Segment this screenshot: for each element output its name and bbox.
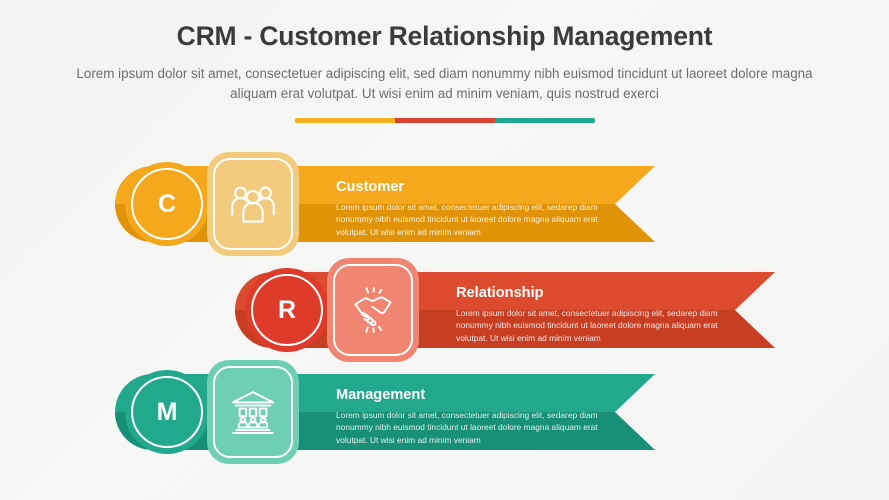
row-text-customer: Customer Lorem ipsum dolor sit amet, con… xyxy=(336,179,598,239)
badge-relationship[interactable]: R xyxy=(245,268,329,352)
row-management[interactable]: M Management Lorem ipsum dolor sit amet xyxy=(115,360,695,464)
people-group-icon xyxy=(230,184,276,224)
badge-customer[interactable]: C xyxy=(125,162,209,246)
row-description: Lorem ipsum dolor sit amet, consectetuer… xyxy=(336,201,598,239)
row-title: Customer xyxy=(336,179,598,197)
row-relationship[interactable]: R Relationship Lorem ipsum dolor sit ame… xyxy=(235,258,815,362)
row-customer[interactable]: C Customer Lorem ipsum dolor sit amet, c… xyxy=(115,152,695,256)
badge-letter: C xyxy=(158,192,176,217)
header: CRM - Customer Relationship Management L… xyxy=(0,0,889,123)
row-text-relationship: Relationship Lorem ipsum dolor sit amet,… xyxy=(456,285,718,345)
page-subtitle: Lorem ipsum dolor sit amet, consectetuer… xyxy=(60,64,830,105)
row-title: Relationship xyxy=(456,285,718,303)
divider-segment-3 xyxy=(495,118,595,123)
divider-segment-1 xyxy=(295,118,395,123)
row-arrow-tip-lower xyxy=(615,204,655,242)
row-description: Lorem ipsum dolor sit amet, consectetuer… xyxy=(456,307,718,345)
row-arrow-tip-upper xyxy=(735,272,775,310)
bank-institution-icon xyxy=(230,390,276,434)
row-arrow-tip-upper xyxy=(615,374,655,412)
row-arrow-tip xyxy=(615,374,655,450)
row-title: Management xyxy=(336,387,598,405)
icon-card-management[interactable] xyxy=(207,360,299,464)
row-arrow-tip-lower xyxy=(615,412,655,450)
row-text-management: Management Lorem ipsum dolor sit amet, c… xyxy=(336,387,598,447)
row-arrow-tip xyxy=(735,272,775,348)
row-arrow-tip-lower xyxy=(735,310,775,348)
handshake-icon xyxy=(349,287,397,333)
badge-letter: R xyxy=(278,298,296,323)
divider-bar xyxy=(295,118,595,123)
badge-letter: M xyxy=(157,400,178,425)
row-arrow-tip xyxy=(615,166,655,242)
row-description: Lorem ipsum dolor sit amet, consectetuer… xyxy=(336,409,598,447)
icon-card-relationship[interactable] xyxy=(327,258,419,362)
icon-card-customer[interactable] xyxy=(207,152,299,256)
badge-management[interactable]: M xyxy=(125,370,209,454)
page-title: CRM - Customer Relationship Management xyxy=(0,21,889,53)
row-arrow-tip-upper xyxy=(615,166,655,204)
divider-segment-2 xyxy=(395,118,495,123)
